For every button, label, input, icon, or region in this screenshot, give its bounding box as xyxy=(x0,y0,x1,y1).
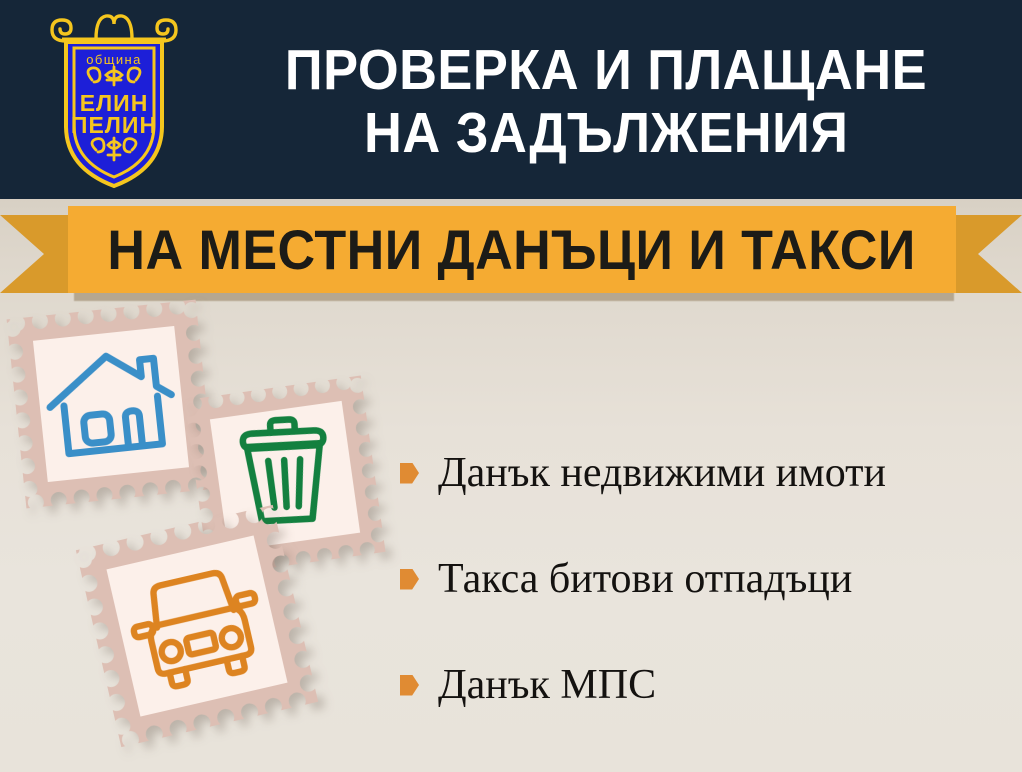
tax-type-list: Данък недвижими имоти Такса битови отпад… xyxy=(400,420,1012,738)
stamp-collage xyxy=(0,299,400,772)
ribbon-text: НА МЕСТНИ ДАНЪЦИ И ТАКСИ xyxy=(108,221,916,279)
crest-label-top: община xyxy=(86,52,141,67)
arrow-bullet-icon xyxy=(400,675,419,696)
municipality-crest-logo: община ЕЛИН ПЕЛИН xyxy=(44,8,184,193)
poster-title: ПРОВЕРКА И ПЛАЩАНЕ НА ЗАДЪЛЖЕНИЯ xyxy=(190,0,1022,199)
list-item-label: Данък недвижими имоти xyxy=(438,450,886,496)
crest-label-name-2: ПЕЛИН xyxy=(71,112,157,138)
arrow-bullet-icon xyxy=(400,569,419,590)
list-item-label: Такса битови отпадъци xyxy=(438,556,852,602)
title-line-2: НА ЗАДЪЛЖЕНИЯ xyxy=(364,102,848,165)
arrow-bullet-icon xyxy=(400,463,419,484)
title-line-1: ПРОВЕРКА И ПЛАЩАНЕ xyxy=(285,39,927,102)
ribbon-plate: НА МЕСТНИ ДАНЪЦИ И ТАКСИ xyxy=(68,206,956,293)
poster-canvas: община ЕЛИН ПЕЛИН xyxy=(0,0,1022,772)
list-item: Такса битови отпадъци xyxy=(400,526,1012,632)
list-item-label: Данък МПС xyxy=(438,662,656,708)
list-item: Данък МПС xyxy=(400,632,1012,738)
header-band: община ЕЛИН ПЕЛИН xyxy=(0,0,1022,199)
list-item: Данък недвижими имоти xyxy=(400,420,1012,526)
subtitle-ribbon: НА МЕСТНИ ДАНЪЦИ И ТАКСИ xyxy=(0,199,1022,299)
